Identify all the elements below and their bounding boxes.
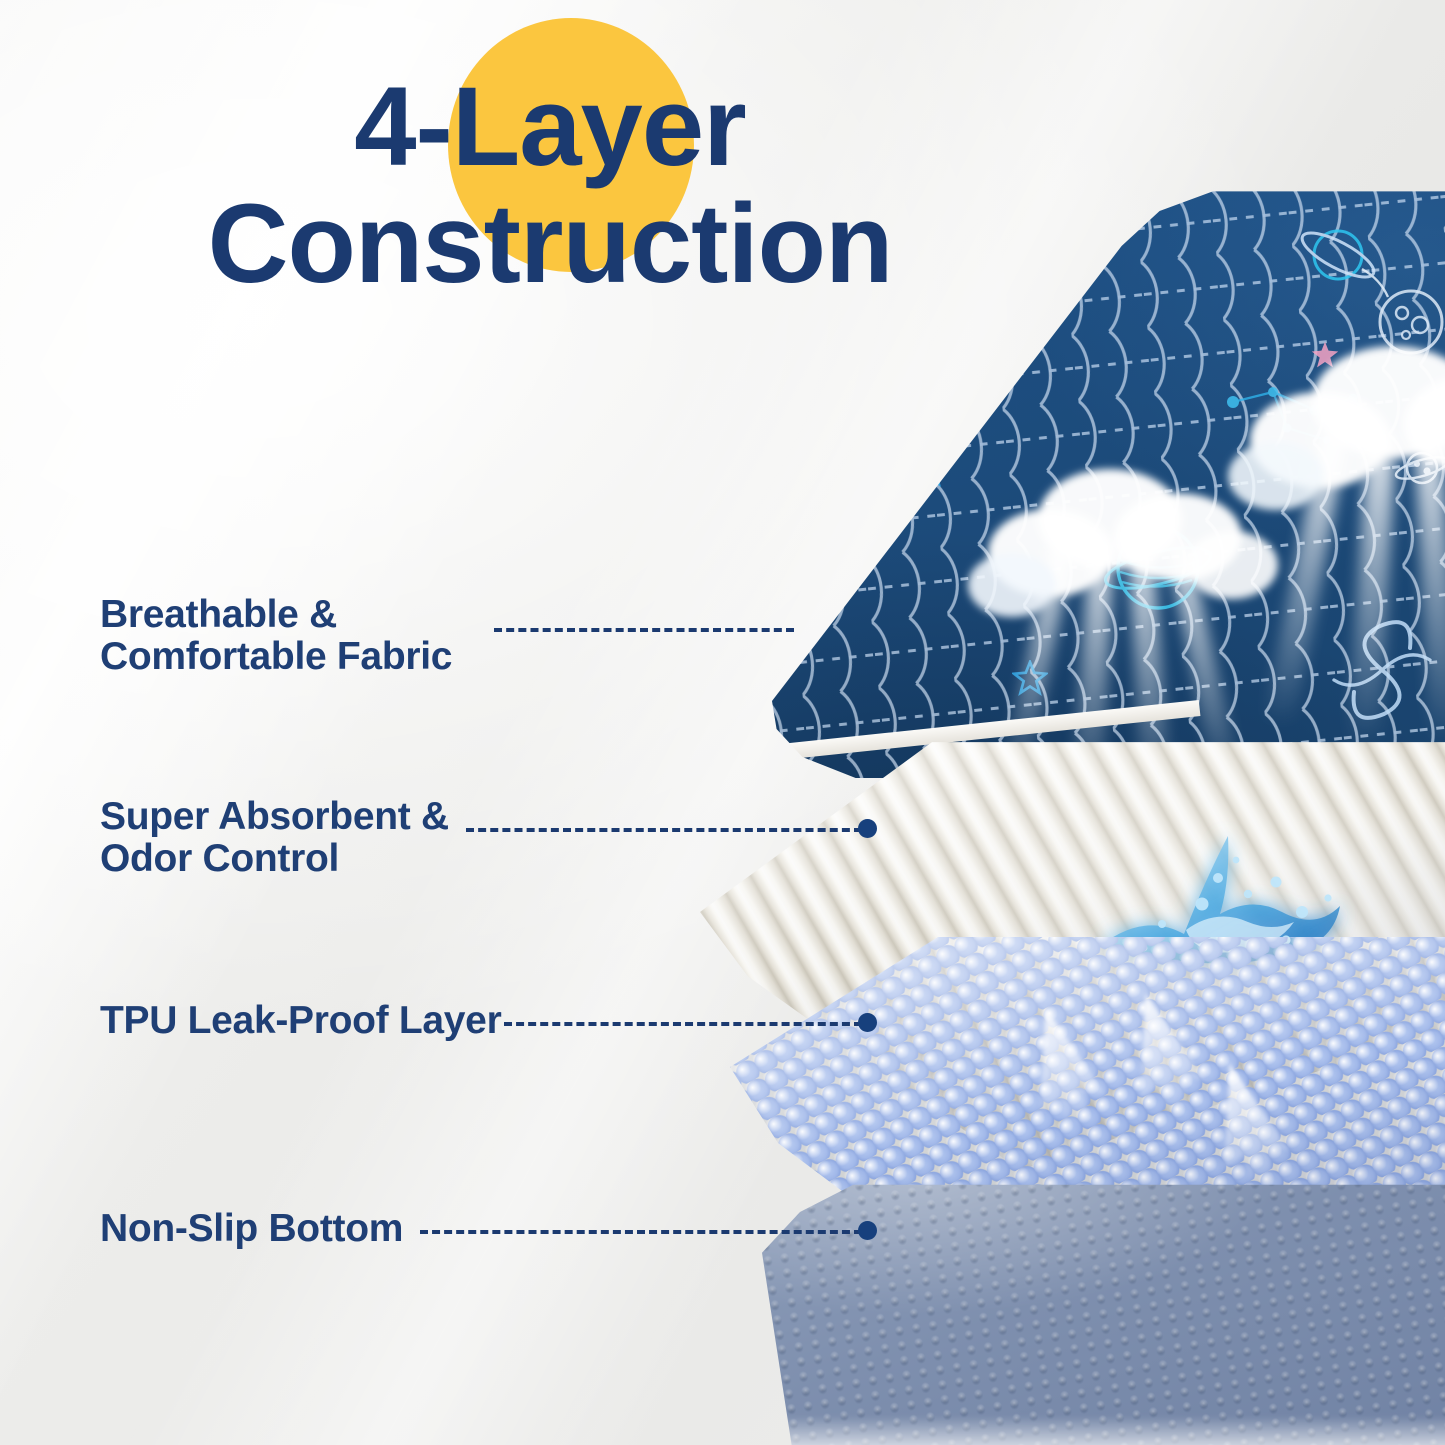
nonslip-edge-highlight [762,1416,1445,1445]
label-breathable-fabric: Breathable & Comfortable Fabric [100,594,452,678]
leader-line-breathable-fabric [494,628,794,632]
label-super-absorbent: Super Absorbent & Odor Control [100,796,449,880]
page-title-line1: 4-Layer [0,72,1100,183]
label-non-slip-bottom: Non-Slip Bottom [100,1208,403,1250]
leader-line-non-slip-bottom [420,1230,862,1234]
leader-line-super-absorbent [466,828,862,832]
label-tpu-leak-proof: TPU Leak-Proof Layer [100,1000,501,1042]
leader-line-tpu-leak-proof [504,1022,862,1026]
page-title-line2: Construction [0,189,1100,300]
leader-dot-non-slip-bottom [858,1221,877,1240]
infographic-canvas: 4-Layer Construction [0,0,1445,1445]
page-title: 4-Layer Construction [0,72,1100,300]
leader-dot-super-absorbent [858,819,877,838]
leader-dot-tpu-leak-proof [858,1013,877,1032]
